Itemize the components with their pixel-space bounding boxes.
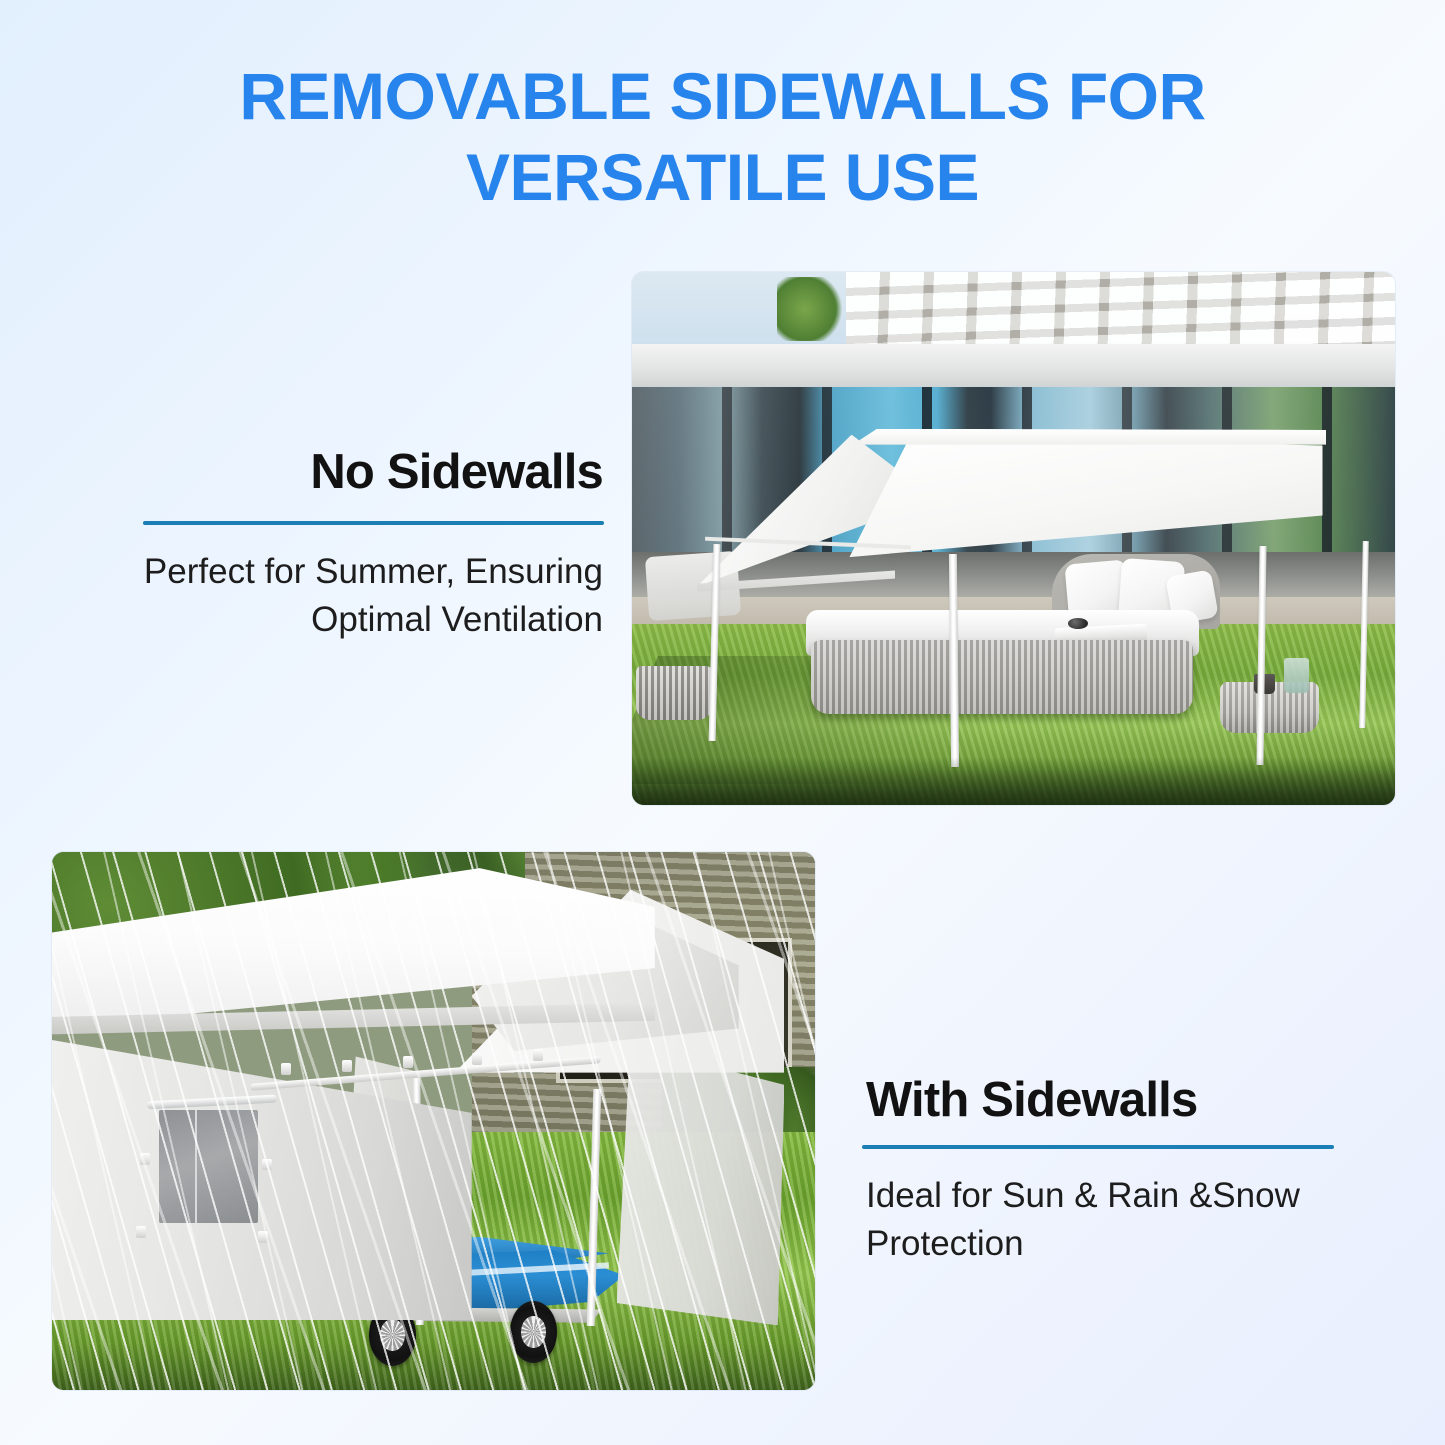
canopy-ridge <box>838 429 1326 445</box>
infographic-page: REMOVABLE SIDEWALLS FOR VERSATILE USE No… <box>0 0 1445 1445</box>
feature-divider-with-sidewalls <box>862 1145 1334 1149</box>
carport-rain-scene <box>52 852 815 1390</box>
with-sidewalls-photo <box>52 852 815 1390</box>
feature-divider-no-sidewalls <box>143 521 604 525</box>
trailer-wheel <box>510 1301 557 1363</box>
bottle <box>1284 658 1308 693</box>
rail-clip <box>342 1060 352 1072</box>
rail-clip <box>533 1049 543 1061</box>
no-sidewalls-photo <box>632 272 1395 805</box>
feature-body-no-sidewalls: Perfect for Summer, Ensuring Optimal Ven… <box>43 548 603 643</box>
house-roof-fascia <box>632 344 1395 389</box>
feature-heading-with-sidewalls: With Sidewalls <box>866 1072 1197 1128</box>
tray-object <box>1068 618 1088 629</box>
sidewall-window-panel <box>159 1110 258 1223</box>
rail-clip <box>403 1056 413 1068</box>
daybed-base <box>811 640 1193 715</box>
page-title-line-1: REMOVABLE SIDEWALLS FOR <box>239 59 1205 133</box>
sidewall-clip <box>258 1231 268 1243</box>
rail-clip <box>472 1053 482 1065</box>
rail-clip <box>281 1063 291 1075</box>
sidewall-clip <box>262 1159 272 1171</box>
page-title-line-2: VERSATILE USE <box>0 137 1445 218</box>
carport-sidewall-right <box>617 1046 785 1326</box>
canopy-garden-scene <box>632 272 1395 805</box>
foreground-shade <box>632 757 1395 805</box>
sidewall-clip <box>136 1226 146 1238</box>
left-planter <box>636 666 712 719</box>
page-title: REMOVABLE SIDEWALLS FOR VERSATILE USE <box>0 56 1445 217</box>
background-tree <box>777 277 846 341</box>
sidewall-clip <box>140 1153 150 1165</box>
pergola-slats <box>846 272 1395 347</box>
feature-body-with-sidewalls: Ideal for Sun & Rain &Snow Protection <box>866 1172 1366 1267</box>
feature-heading-no-sidewalls: No Sidewalls <box>310 444 603 500</box>
